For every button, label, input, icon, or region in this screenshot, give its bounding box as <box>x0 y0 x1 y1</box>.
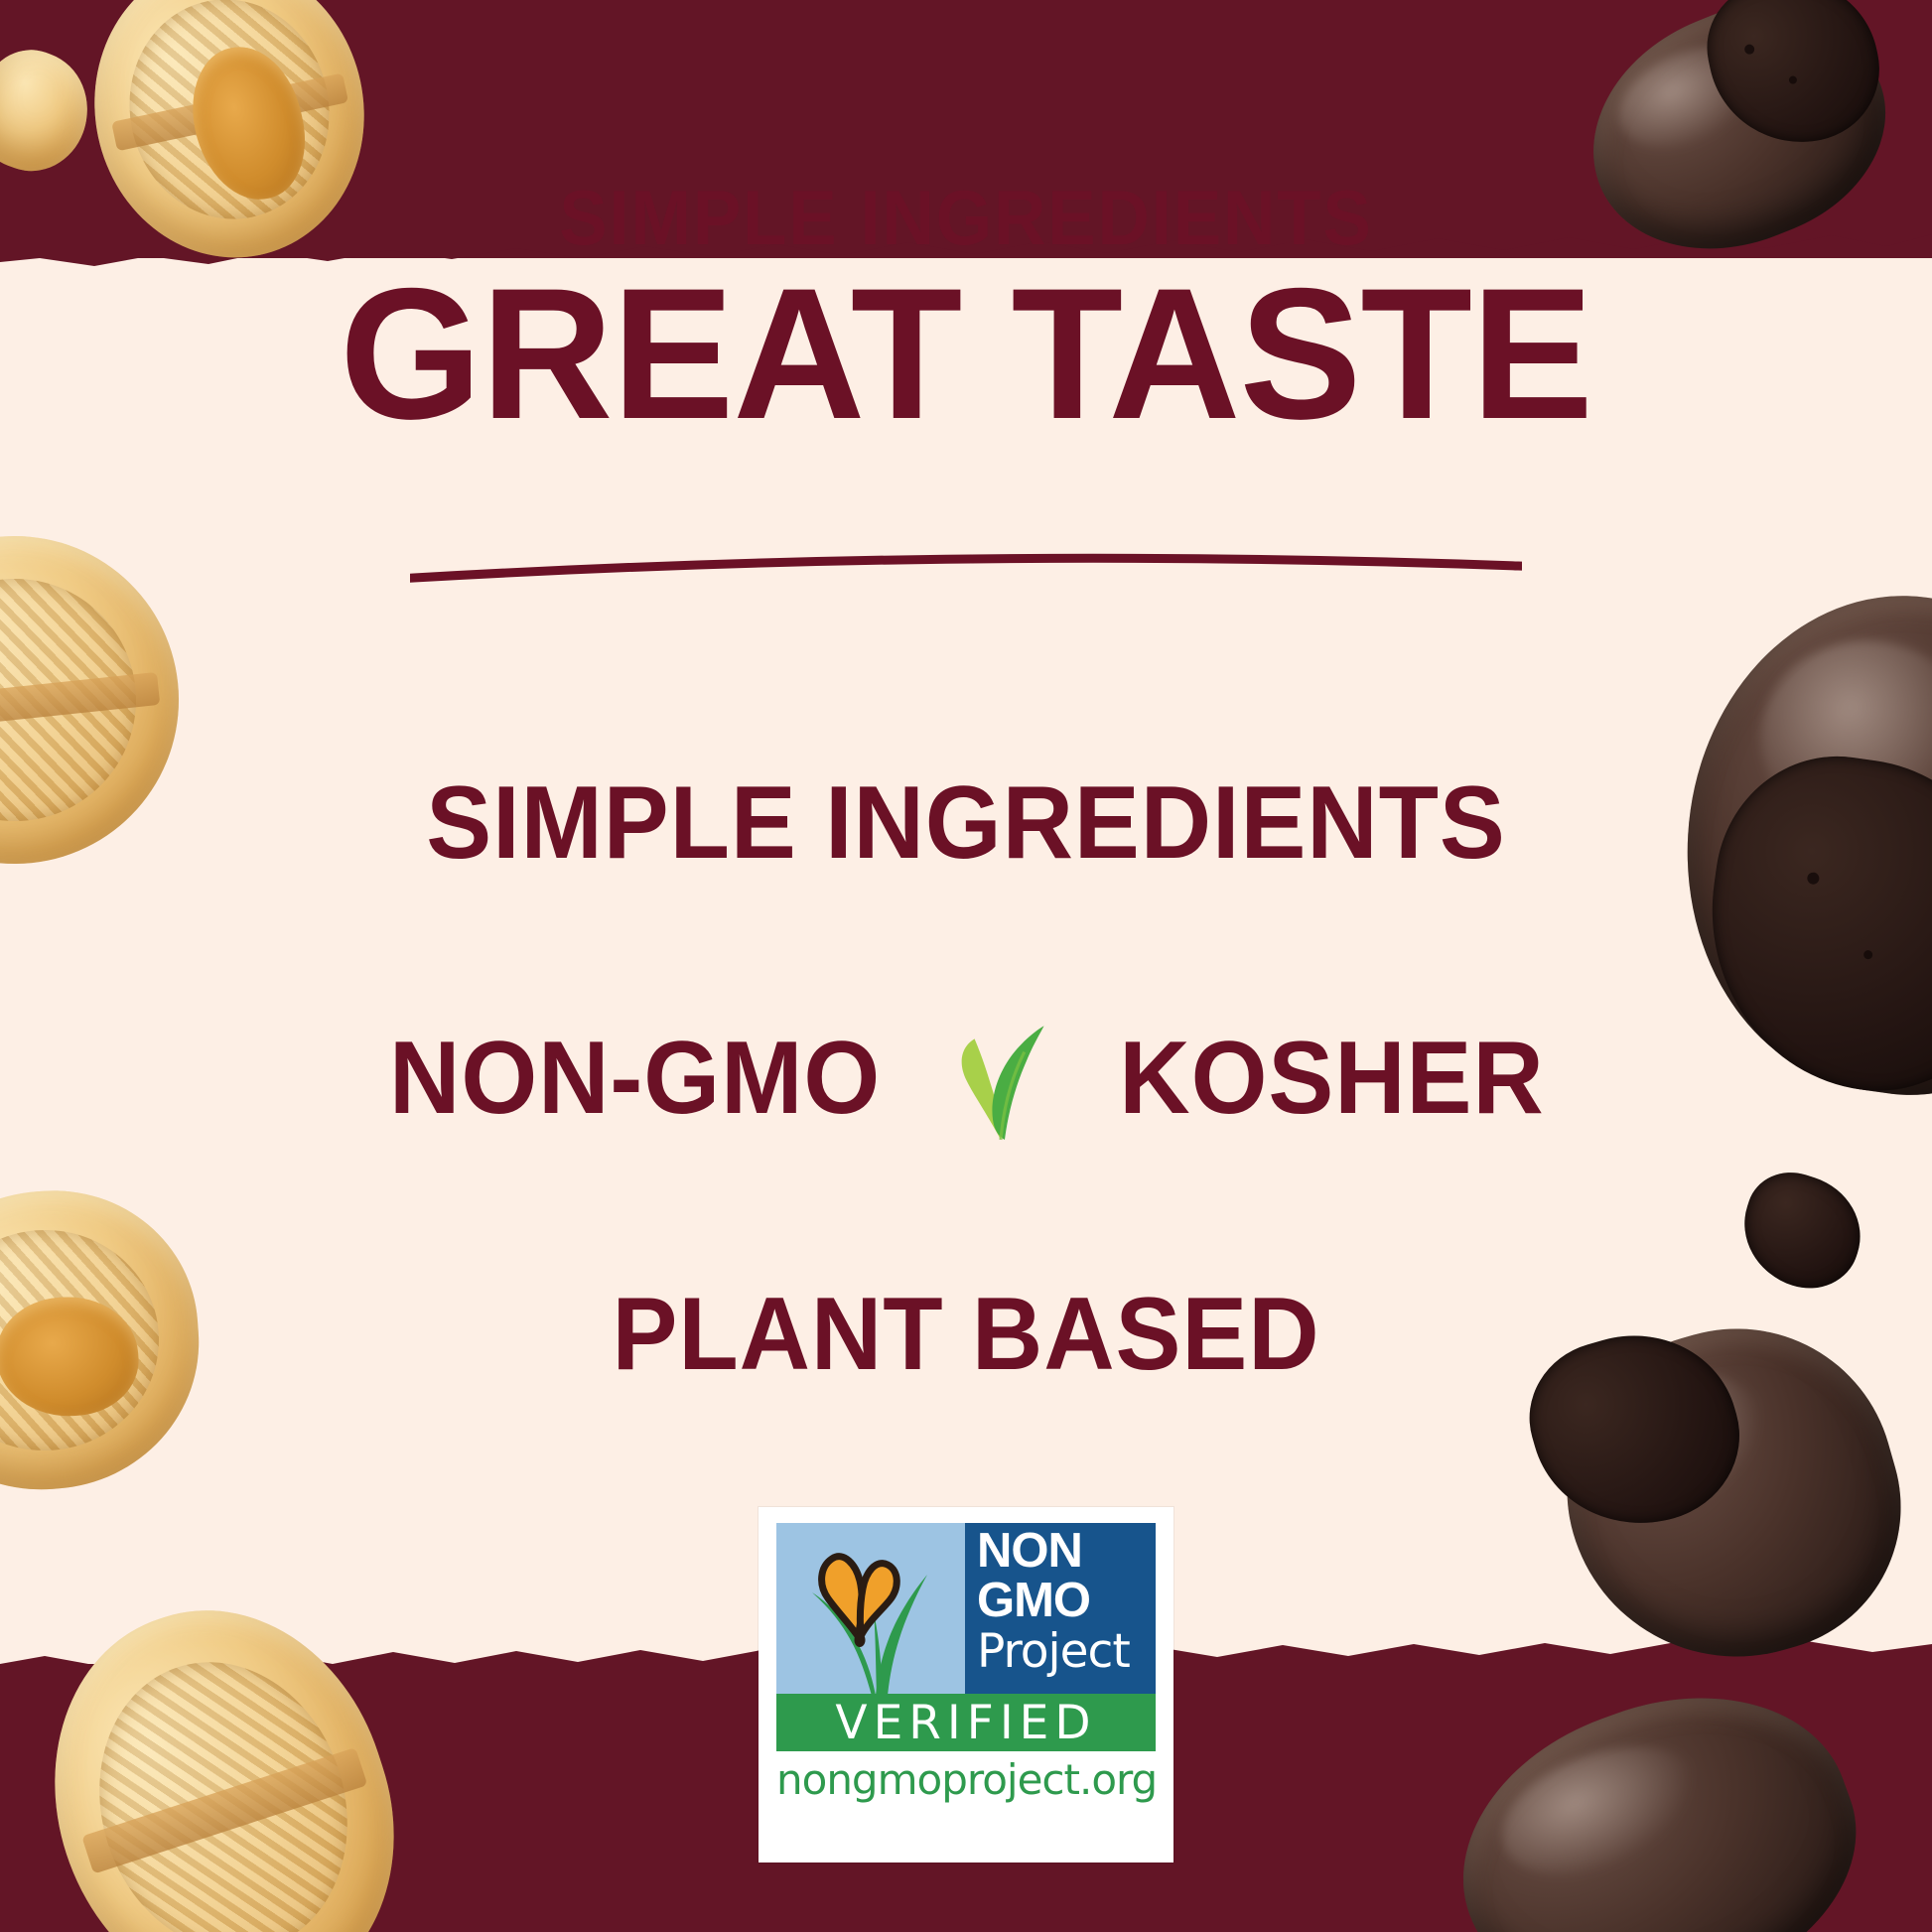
seal-sky-panel <box>776 1523 965 1694</box>
leaf-icon <box>935 1013 1066 1144</box>
feature-plant-based: PLANT BASED <box>49 1276 1884 1394</box>
seal-url-text: nongmoproject.org <box>776 1755 1156 1804</box>
divider <box>0 544 1932 584</box>
butterfly-icon <box>806 1541 923 1650</box>
feature-non-gmo: NON-GMO <box>389 1020 881 1138</box>
feature-simple-ingredients: SIMPLE INGREDIENTS <box>49 764 1884 883</box>
feature-kosher: KOSHER <box>1119 1020 1544 1138</box>
seal-blue-panel: NON GMO Project <box>965 1523 1156 1694</box>
feature-row-non-gmo-kosher: NON-GMO KOSHER <box>0 1013 1932 1144</box>
seal-non-text: NON <box>977 1527 1082 1575</box>
seal-project-text: Project <box>977 1628 1130 1675</box>
promo-graphic: SIMPLE INGREDIENTS GREAT TASTE SIMPLE IN… <box>0 0 1932 1932</box>
seal-top-row: NON GMO Project <box>776 1523 1156 1694</box>
seal-verified-text: VERIFIED <box>776 1694 1156 1751</box>
seal-gmo-text: GMO <box>977 1577 1090 1624</box>
page-title: GREAT TASTE <box>19 260 1912 447</box>
non-gmo-project-verified-seal: NON GMO Project VERIFIED nongmoproject.o… <box>759 1507 1173 1863</box>
